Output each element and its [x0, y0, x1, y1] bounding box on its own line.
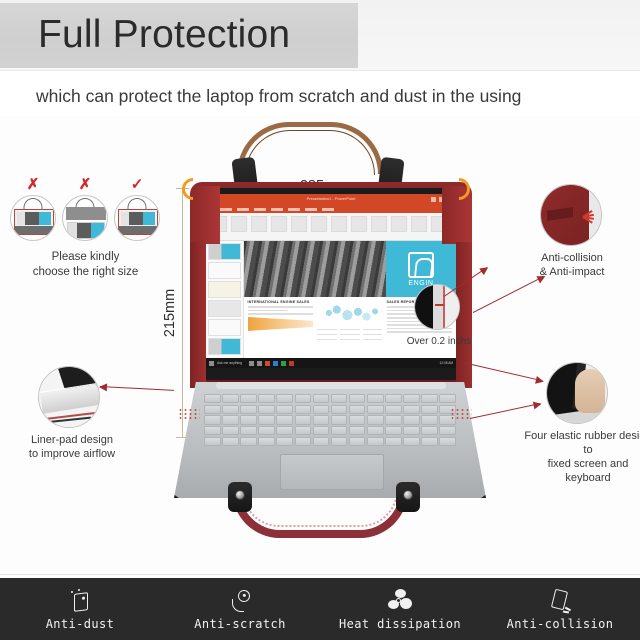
handle-outline-icon	[128, 198, 147, 209]
corner-bumper-art	[541, 185, 601, 245]
screen-fill	[121, 212, 156, 226]
taskbar-app-icon[interactable]	[281, 361, 286, 366]
page-subtitle: which can protect the laptop from scratc…	[36, 86, 521, 107]
feature-label: Anti-collision	[507, 617, 614, 631]
size-option-too-small: ✗	[10, 178, 56, 241]
elastic-corner-art	[547, 363, 607, 423]
laptop-keyboard-base	[174, 382, 486, 498]
size-guide-caption: Please kindly choose the right size	[8, 250, 163, 280]
rubber-corner-detail-photo	[546, 362, 608, 424]
stats-table	[317, 328, 383, 340]
slide-column-left: INTERNATIONAL ENGINE SALES	[248, 300, 314, 355]
size-guide-caption-line1: Please kindly	[8, 250, 163, 265]
powerpoint-document-title: Presentation1 - PowerPoint	[307, 196, 356, 201]
ribbon-tabs	[206, 206, 456, 213]
funnel-chart	[248, 317, 314, 331]
product-illustration-stage: ✗ ✗ ✓	[0, 116, 640, 574]
slide-column-middle	[317, 300, 383, 355]
feature-label: Anti-scratch	[194, 617, 286, 631]
callout-anti-collision: Anti-collision & Anti-impact	[540, 184, 640, 279]
bottom-handle-tab-left	[228, 482, 252, 512]
keyboard-base	[15, 226, 53, 234]
bottom-handle	[232, 490, 408, 538]
taskbar-app-icon[interactable]	[289, 361, 294, 366]
callout-text: Liner-pad design to improve airflow	[16, 433, 128, 461]
callout-text: Four elastic rubber design to fixed scre…	[524, 429, 640, 485]
size-thumbnail	[62, 195, 108, 241]
size-guide-caption-line2: choose the right size	[8, 265, 163, 280]
laptop-outline	[14, 209, 54, 235]
keyboard-keys	[204, 394, 456, 446]
ventilation-dots-right	[450, 408, 472, 420]
trackpad	[280, 454, 384, 490]
engine-logo-icon	[408, 252, 434, 278]
feature-bar: Anti-dust Anti-scratch Heat dissipation …	[0, 578, 640, 640]
world-map-chart	[317, 303, 383, 325]
liner-pad-art	[39, 367, 99, 427]
callout-text: Over 0.2 inchs	[394, 335, 484, 349]
screen-fill	[17, 212, 52, 226]
callout-line2: fixed screen and keyboard	[524, 457, 640, 485]
anti-collision-detail-photo	[540, 184, 602, 246]
windows-taskbar[interactable]: Ask me anything 12:08 AM	[206, 358, 456, 368]
feature-label: Heat dissipation	[339, 617, 461, 631]
size-thumbnail	[114, 195, 160, 241]
slide-heading-left: INTERNATIONAL ENGINE SALES	[248, 300, 314, 304]
rivet-icon	[235, 490, 245, 500]
key-icon	[229, 588, 251, 614]
size-option-too-large: ✗	[62, 178, 108, 241]
leather-handle	[237, 122, 383, 174]
taskbar-powerpoint-icon[interactable]	[265, 361, 270, 366]
ventilation-dots-left	[178, 408, 200, 420]
callout-line1: Anti-collision	[512, 251, 632, 265]
callout-line1: Over 0.2 inchs	[394, 335, 484, 349]
liner-pad-detail-photo	[38, 366, 100, 428]
powerpoint-titlebar: Presentation1 - PowerPoint	[206, 194, 456, 206]
feature-label: Anti-dust	[46, 617, 115, 631]
fan-icon	[388, 588, 412, 614]
start-button-icon[interactable]	[209, 361, 214, 366]
callout-liner-pad: Liner-pad design to improve airflow	[16, 366, 128, 461]
feature-anti-dust: Anti-dust	[0, 578, 160, 640]
feature-heat-dissipation: Heat dissipation	[320, 578, 480, 640]
handle-outline-icon	[24, 198, 43, 209]
rivet-icon	[403, 490, 413, 500]
callout-line1: Liner-pad design	[16, 433, 128, 447]
page-title: Full Protection	[38, 12, 290, 58]
taskbar-clock: 12:08 AM	[440, 361, 453, 365]
feature-anti-scratch: Anti-scratch	[160, 578, 320, 640]
cross-icon: ✗	[62, 178, 108, 193]
slide-photo	[244, 241, 386, 297]
size-thumbnail	[10, 195, 56, 241]
callout-text: Anti-collision & Anti-impact	[512, 251, 632, 279]
impact-spark-icon	[575, 207, 595, 227]
slide-thumbnail-pane	[206, 241, 244, 358]
cross-icon: ✗	[10, 178, 56, 193]
hinge	[216, 382, 446, 389]
feature-anti-collision: Anti-collision	[480, 578, 640, 640]
tilted-device-icon	[549, 588, 571, 614]
elastic-strap-bottom-left	[168, 494, 223, 537]
header-divider	[0, 70, 640, 71]
taskbar-search[interactable]: Ask me anything	[217, 361, 242, 365]
size-guide: ✗ ✗ ✓	[8, 178, 163, 298]
bottom-handle-tab-right	[396, 482, 420, 512]
sleeve-side-left	[190, 242, 206, 388]
elastic-strap-bottom-right	[437, 494, 492, 537]
laptop-outline	[67, 222, 105, 239]
callout-line1: Four elastic rubber design to	[524, 429, 640, 457]
dust-icon	[70, 588, 90, 614]
callout-thickness: Over 0.2 inchs	[414, 284, 468, 349]
feature-bar-divider	[0, 574, 640, 575]
callout-line2: to improve airflow	[16, 447, 128, 461]
taskbar-app-icon[interactable]	[249, 361, 254, 366]
ribbon-toolbar	[206, 213, 456, 241]
taskbar-app-icon[interactable]	[257, 361, 262, 366]
keyboard-base	[119, 226, 157, 234]
taskbar-app-icon[interactable]	[273, 361, 278, 366]
callout-line2: & Anti-impact	[512, 265, 632, 279]
laptop-outline	[118, 209, 158, 235]
size-option-correct: ✓	[114, 178, 160, 241]
check-icon: ✓	[114, 178, 160, 193]
sleeve-outline	[66, 207, 106, 220]
